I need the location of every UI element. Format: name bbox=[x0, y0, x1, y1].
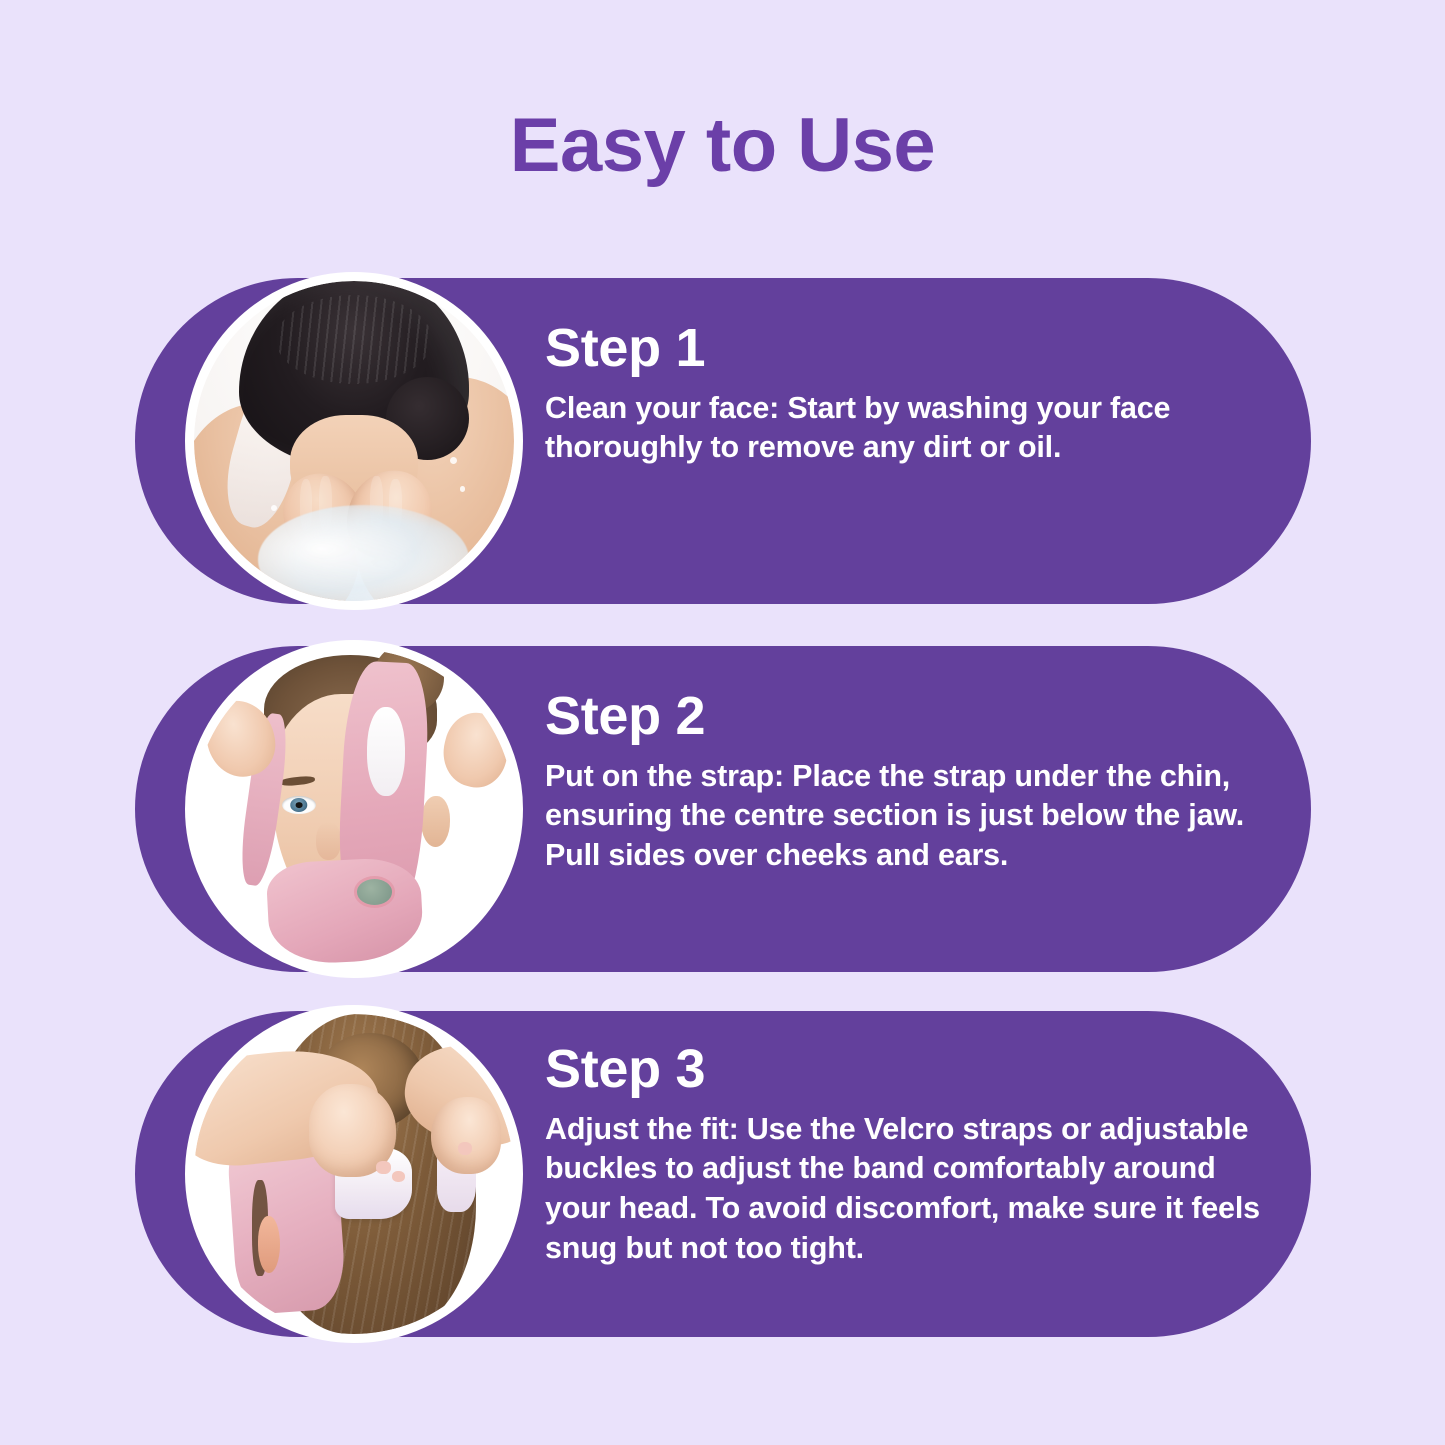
eye-left bbox=[282, 796, 316, 814]
infographic-page: Easy to Use bbox=[0, 0, 1445, 1445]
water-drop-1 bbox=[450, 457, 457, 464]
step-card-3: Step 3 Adjust the fit: Use the Velcro st… bbox=[135, 1011, 1311, 1337]
fingernail-1 bbox=[376, 1161, 390, 1174]
nose bbox=[316, 822, 342, 860]
steps-list: Step 1 Clean your face: Start by washing… bbox=[0, 0, 1445, 1445]
step-2-text-block: Step 2 Put on the strap: Place the strap… bbox=[545, 688, 1245, 876]
strap-white-pad bbox=[367, 707, 405, 797]
step-2-photo bbox=[185, 640, 523, 978]
step-3-heading: Step 3 bbox=[545, 1041, 1265, 1098]
water-drop-2 bbox=[460, 486, 466, 492]
step-1-heading: Step 1 bbox=[545, 320, 1245, 377]
step-card-2: Step 2 Put on the strap: Place the strap… bbox=[135, 646, 1311, 972]
step-1-photo bbox=[185, 272, 523, 610]
fingernail-3 bbox=[458, 1142, 472, 1155]
hand-right bbox=[431, 1097, 501, 1174]
step-3-body: Adjust the fit: Use the Velcro straps or… bbox=[545, 1110, 1261, 1269]
iris-left bbox=[290, 798, 307, 812]
hand-right bbox=[436, 706, 514, 793]
step-2-body: Put on the strap: Place the strap under … bbox=[545, 757, 1245, 876]
washing-illustration bbox=[194, 281, 514, 601]
ear bbox=[421, 796, 450, 847]
strap-on-face-photo bbox=[194, 649, 514, 969]
step-2-heading: Step 2 bbox=[545, 688, 1245, 745]
velcro-illustration bbox=[194, 1014, 514, 1334]
step-card-1: Step 1 Clean your face: Start by washing… bbox=[135, 278, 1311, 604]
step-3-photo bbox=[185, 1005, 523, 1343]
step-1-body: Clean your face: Start by washing your f… bbox=[545, 389, 1245, 468]
velcro-adjust-photo bbox=[194, 1014, 514, 1334]
step-3-text-block: Step 3 Adjust the fit: Use the Velcro st… bbox=[545, 1041, 1265, 1268]
face-washing-photo bbox=[194, 281, 514, 601]
strap-illustration bbox=[194, 649, 514, 969]
step-1-text-block: Step 1 Clean your face: Start by washing… bbox=[545, 320, 1245, 468]
chin-band bbox=[265, 856, 424, 966]
